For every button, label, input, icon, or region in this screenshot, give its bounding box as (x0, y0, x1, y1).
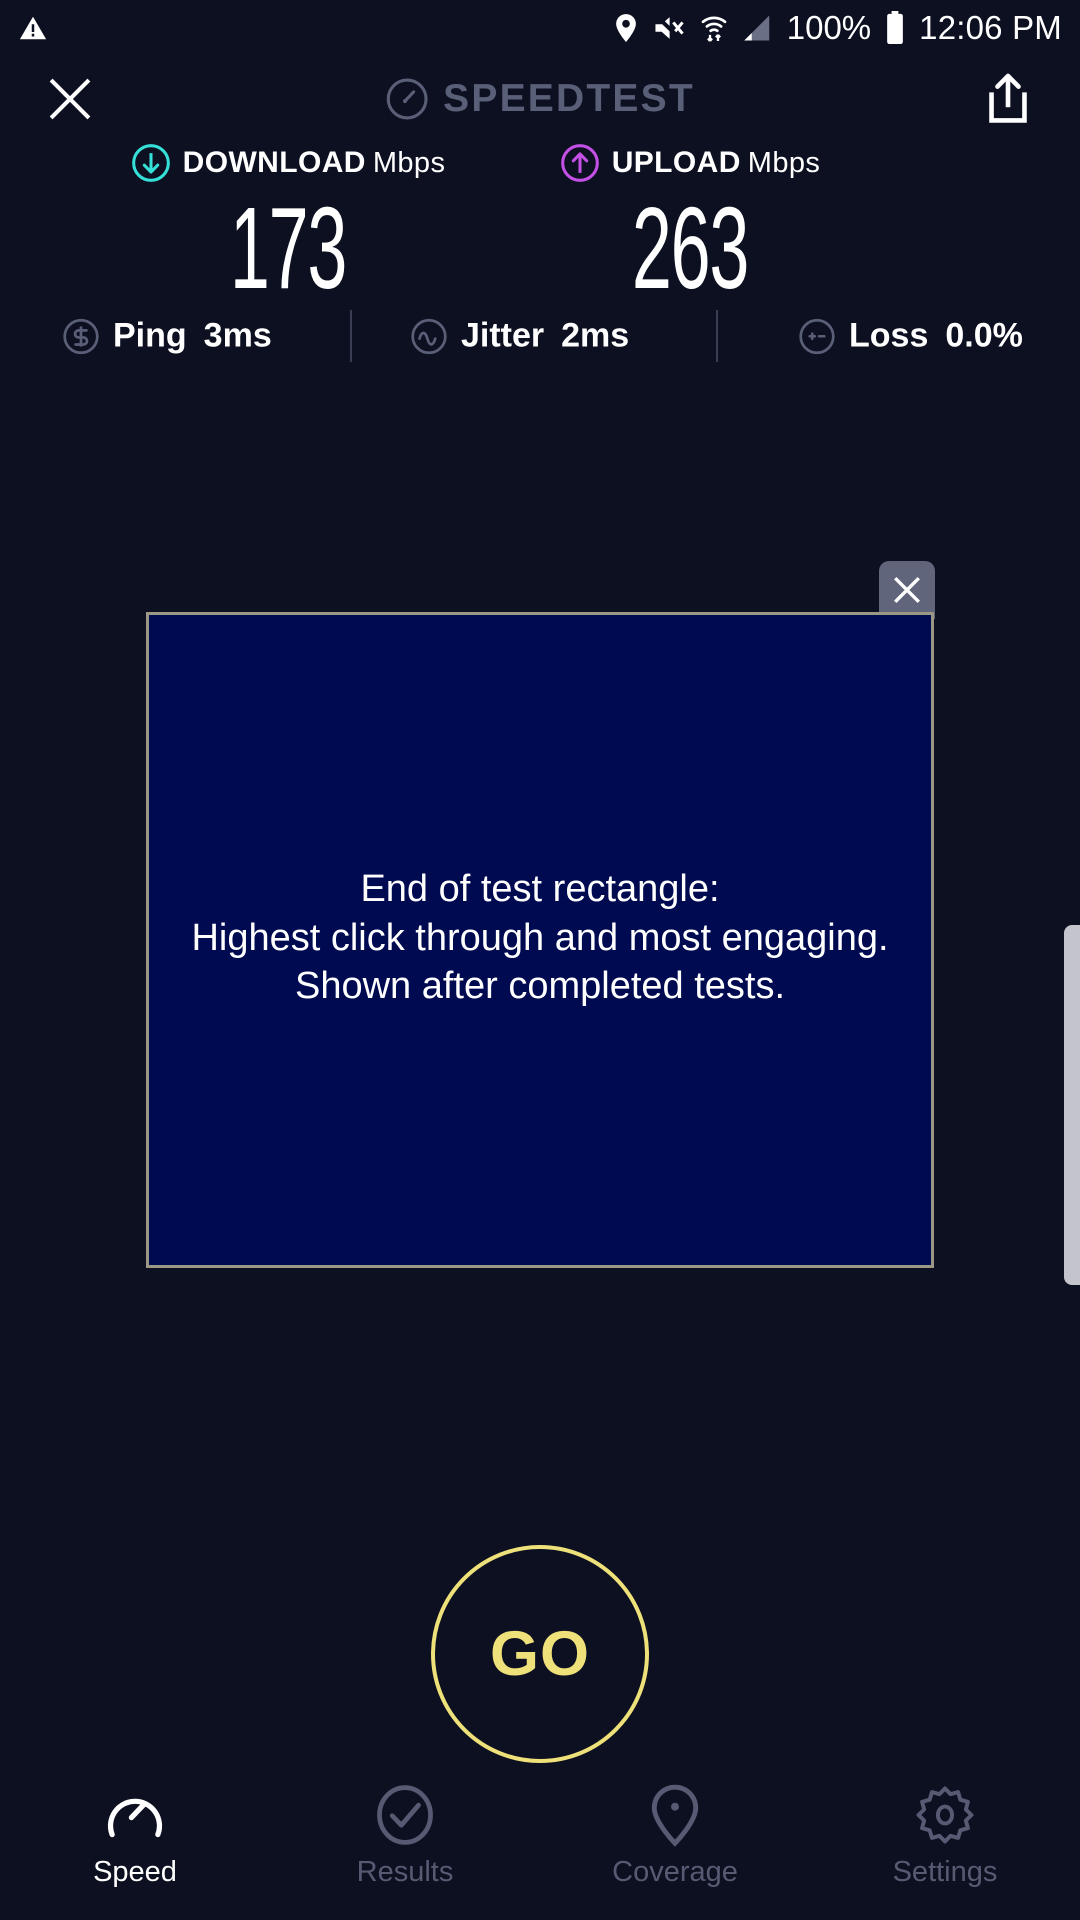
metric-divider-1 (350, 310, 352, 362)
metric-loss: Loss 0.0% (798, 317, 1023, 356)
upload-result: UPLOADMbps 263 (480, 140, 900, 306)
upload-label-text: UPLOAD (612, 146, 741, 179)
upload-label: UPLOADMbps (612, 146, 821, 180)
battery-percent-label: 100% (787, 9, 871, 47)
status-bar-right-icons: 100% 12:06 PM (613, 9, 1062, 47)
ad-banner-text: End of test rectangle: Highest click thr… (191, 865, 888, 1011)
close-x-icon (43, 72, 97, 126)
metric-ping: Ping 3ms (62, 317, 272, 356)
go-button-label: GO (490, 1618, 590, 1690)
battery-full-icon (885, 11, 905, 45)
wifi-icon (699, 12, 729, 44)
warning-triangle-icon (18, 13, 48, 43)
packet-loss-icon (798, 317, 836, 355)
brand-logo: SPEEDTEST (385, 77, 695, 121)
upload-header: UPLOADMbps (480, 140, 900, 186)
loss-value: 0.0% (945, 317, 1023, 356)
upload-arrow-circle-icon (560, 143, 600, 183)
volume-muted-icon (653, 13, 685, 43)
page-scrollbar-thumb[interactable] (1064, 925, 1080, 1285)
system-status-bar: 100% 12:06 PM (0, 0, 1080, 56)
ad-line-2: Highest click through and most engaging. (191, 914, 888, 963)
download-label: DOWNLOADMbps (183, 146, 446, 180)
jitter-wave-icon (410, 317, 448, 355)
download-unit-text: Mbps (373, 147, 446, 179)
clock-label: 12:06 PM (919, 9, 1062, 47)
nav-item-settings[interactable]: Settings (810, 1770, 1080, 1889)
loss-label: Loss (849, 317, 928, 356)
status-bar-left-icons (18, 13, 48, 43)
ping-value: 3ms (204, 317, 272, 356)
gear-icon (914, 1784, 976, 1846)
download-arrow-circle-icon (131, 143, 171, 183)
close-button[interactable] (38, 67, 102, 131)
share-button[interactable] (978, 69, 1038, 129)
nav-item-speed[interactable]: Speed (0, 1770, 270, 1889)
speedometer-icon (385, 77, 429, 121)
download-label-text: DOWNLOAD (183, 146, 366, 179)
map-pin-icon (648, 1784, 702, 1846)
nav-label-speed: Speed (93, 1856, 177, 1889)
download-result: DOWNLOADMbps 173 (78, 140, 498, 306)
nav-label-settings: Settings (893, 1856, 998, 1889)
check-circle-icon (374, 1784, 436, 1846)
page-scrollbar-track (1064, 925, 1080, 1285)
download-value: 173 (158, 190, 418, 306)
test-results-panel: DOWNLOADMbps 173 UPLOADMbps 263 (0, 140, 1080, 310)
ping-icon (62, 317, 100, 355)
brand-name: SPEEDTEST (443, 77, 695, 121)
connection-metrics-row: Ping 3ms Jitter 2ms Los (0, 305, 1080, 367)
speedometer-icon (104, 1784, 166, 1846)
speedtest-app-screen: 100% 12:06 PM SP (0, 0, 1080, 1920)
ad-banner[interactable]: End of test rectangle: Highest click thr… (146, 612, 934, 1268)
ping-label: Ping (113, 317, 187, 356)
share-upload-icon (982, 71, 1034, 127)
upload-unit-text: Mbps (748, 147, 821, 179)
app-header: SPEEDTEST (0, 56, 1080, 142)
download-header: DOWNLOADMbps (78, 140, 498, 186)
nav-item-results[interactable]: Results (270, 1770, 540, 1889)
upload-value: 263 (560, 190, 820, 306)
ad-close-button[interactable] (879, 561, 935, 619)
metric-divider-2 (716, 310, 718, 362)
bottom-navigation-bar: Speed Results Coverage (0, 1770, 1080, 1920)
jitter-value: 2ms (561, 317, 629, 356)
nav-label-coverage: Coverage (612, 1856, 738, 1889)
cellular-signal-icon (743, 14, 773, 42)
jitter-label: Jitter (461, 317, 544, 356)
ad-line-3: Shown after completed tests. (191, 962, 888, 1011)
metric-jitter: Jitter 2ms (410, 317, 629, 356)
nav-label-results: Results (357, 1856, 454, 1889)
nav-item-coverage[interactable]: Coverage (540, 1770, 810, 1889)
ad-line-1: End of test rectangle: (191, 865, 888, 914)
location-pin-icon (613, 13, 639, 43)
go-button[interactable]: GO (431, 1545, 649, 1763)
close-x-icon (890, 573, 924, 607)
